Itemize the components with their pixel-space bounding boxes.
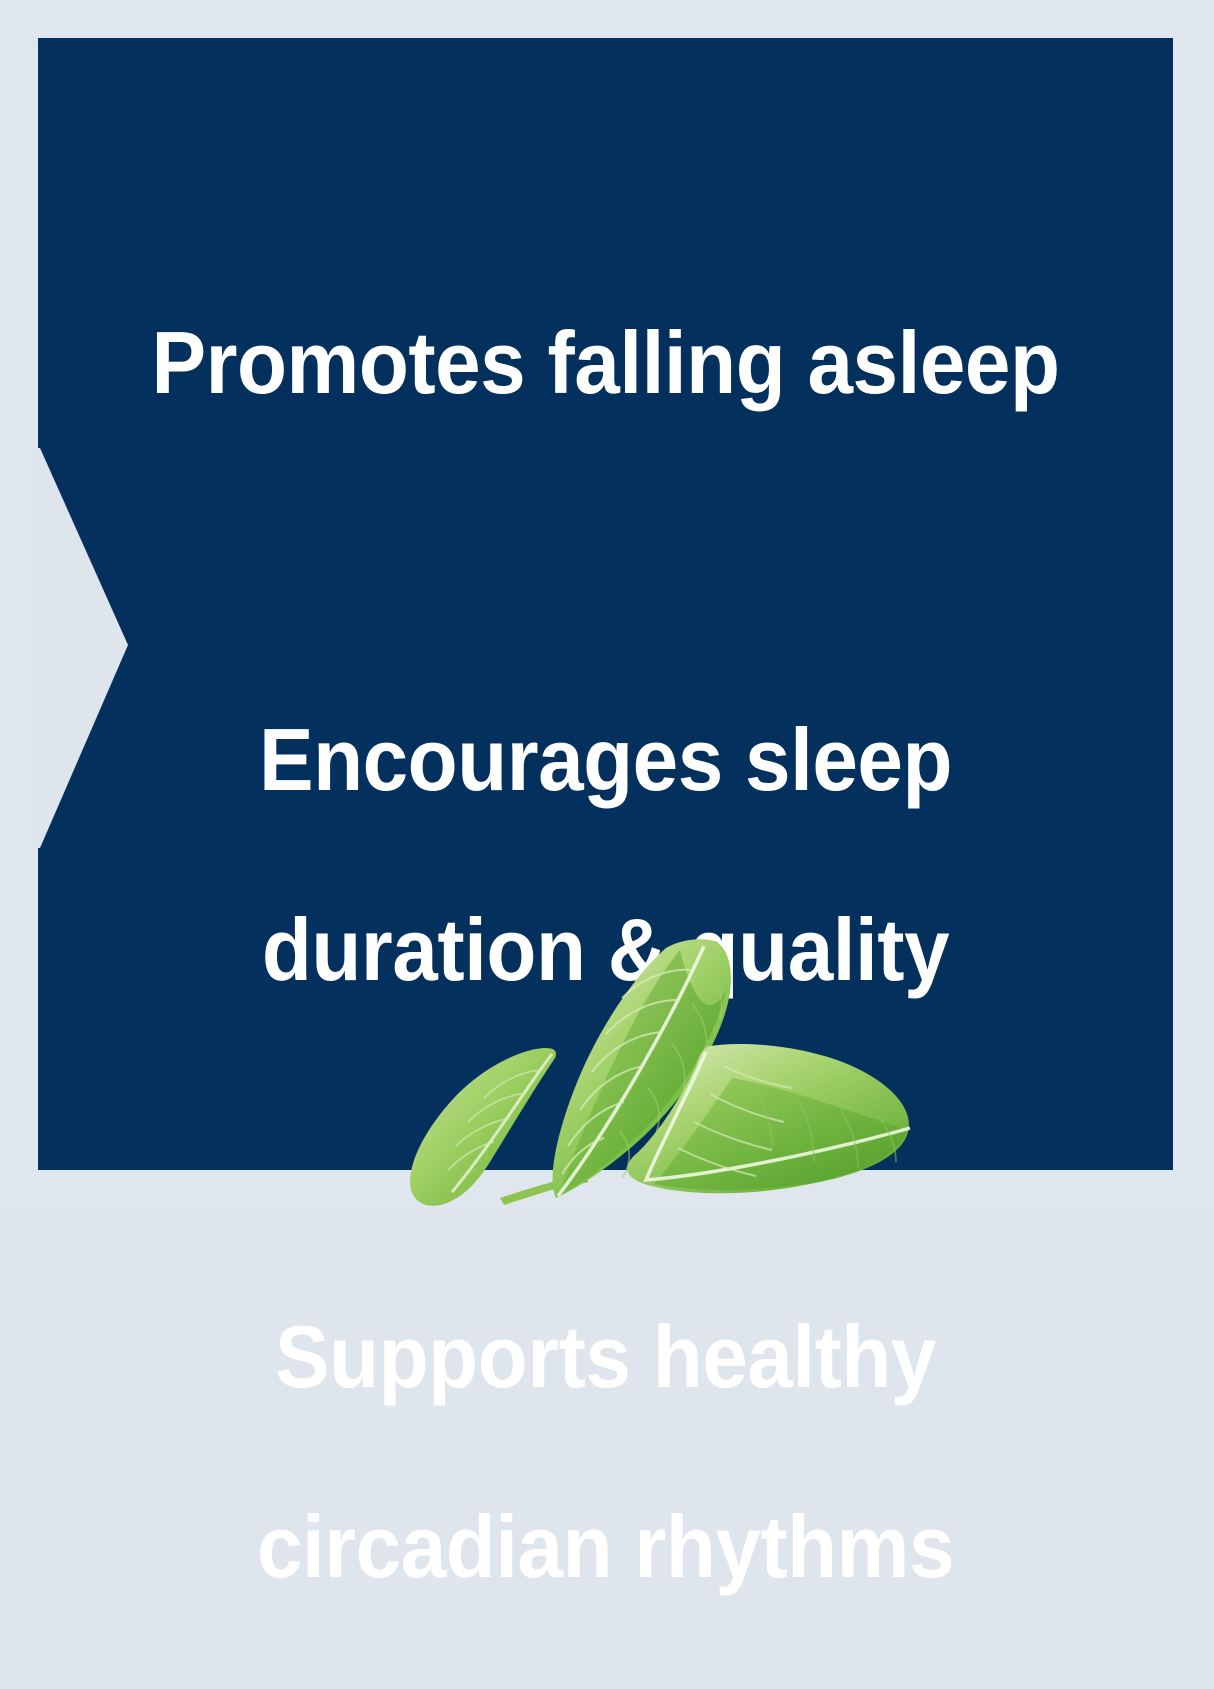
benefit-item-1: Promotes falling asleep	[78, 220, 1134, 505]
leaf-stem	[500, 1178, 570, 1205]
leaf-stem-secondary	[556, 1176, 588, 1194]
benefit-item-2: Encourages sleep duration & quality	[78, 617, 1134, 1092]
product-benefits-graphic: Promotes falling asleep Encourages sleep…	[0, 0, 1214, 1214]
benefit-3-line-1: Supports healthy	[78, 1309, 1134, 1404]
benefit-item-3: Supports healthy circadian rhythms	[78, 1214, 1134, 1689]
benefit-2-line-1: Encourages sleep	[78, 712, 1134, 807]
benefit-3-line-2: circadian rhythms	[78, 1499, 1134, 1594]
benefits-list: Promotes falling asleep Encourages sleep…	[38, 38, 1173, 1170]
benefit-2-line-2: duration & quality	[78, 902, 1134, 997]
benefit-1-line-1: Promotes falling asleep	[78, 315, 1134, 410]
